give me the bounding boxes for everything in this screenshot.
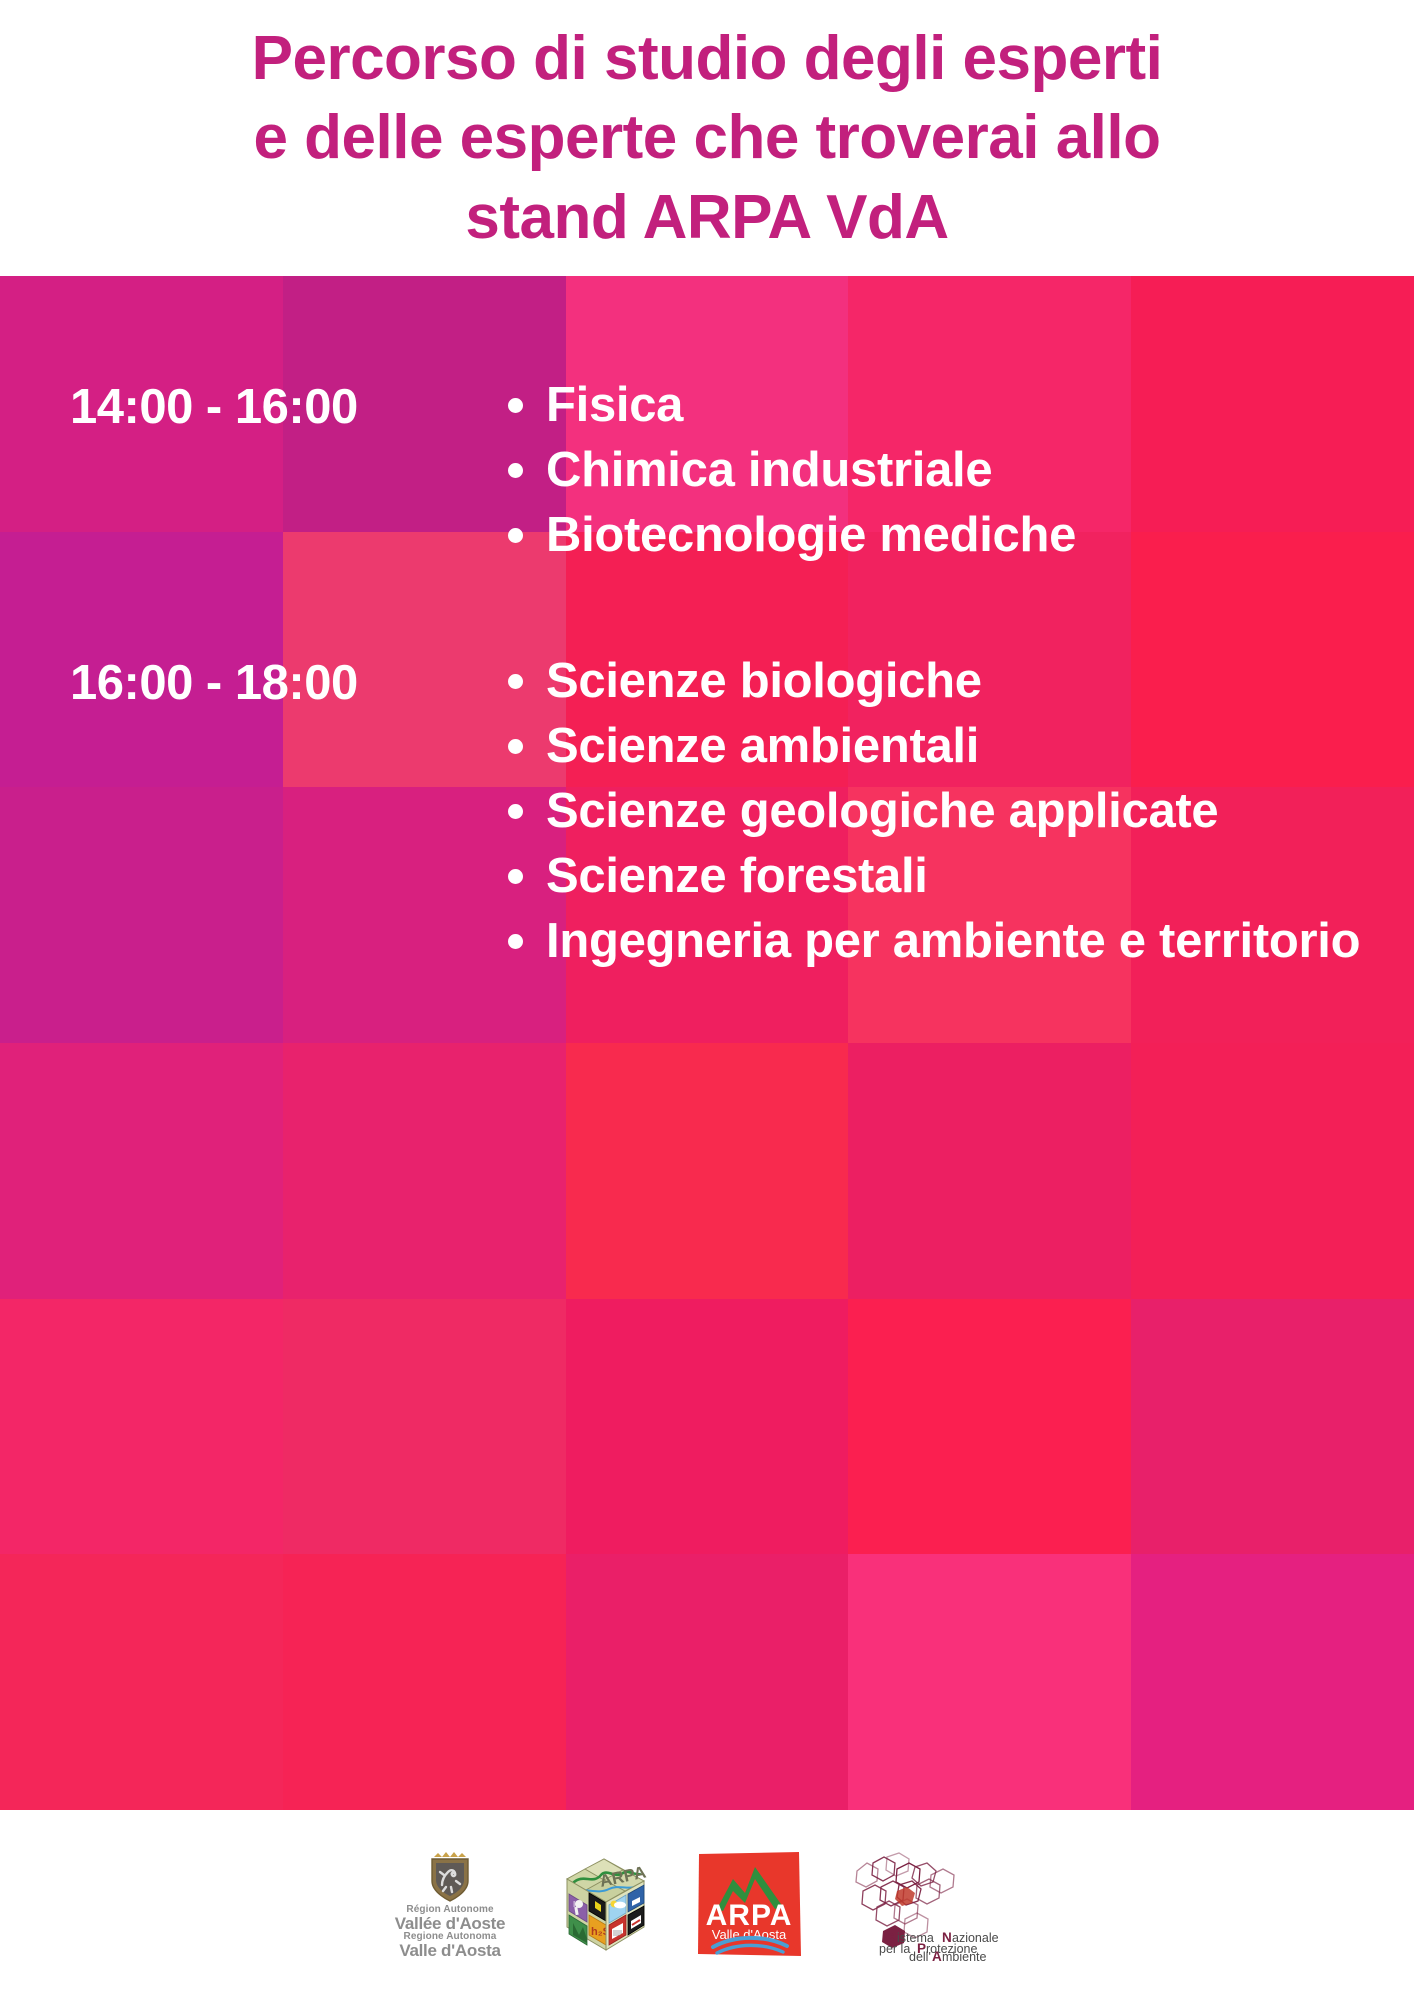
snpa-hexagon-network-icon: S istema N azionale per la P rotezione d… <box>839 1849 1029 1961</box>
title-line-3: stand ARPA VdA <box>465 183 948 252</box>
schedule-slot: 16:00 - 18:00 Scienze biologiche Scienze… <box>70 652 1374 976</box>
footer-logos: Région Autonome Vallée d'Aoste Regione A… <box>0 1810 1414 2000</box>
bullet-icon <box>508 804 523 819</box>
bullet-icon <box>508 674 523 689</box>
snpa-line-2: per la <box>879 1942 910 1956</box>
bullet-icon <box>508 398 523 413</box>
title-line-1: Percorso di studio degli esperti <box>252 24 1163 93</box>
bullet-icon <box>508 528 523 543</box>
page-title: Percorso di studio degli esperti e delle… <box>252 19 1163 257</box>
list-item: Biotecnologie mediche <box>502 506 1374 565</box>
subject-label: Scienze forestali <box>546 849 928 903</box>
bullet-icon <box>508 739 523 754</box>
slot-subject-list: Fisica Chimica industriale Biotecnologie… <box>490 376 1374 570</box>
svg-text:A: A <box>932 1949 942 1961</box>
svg-text:mbiente: mbiente <box>942 1950 987 1961</box>
subject-label: Ingegneria per ambiente e territorio <box>546 914 1360 968</box>
title-line-2: e delle esperte che troverai allo <box>253 103 1160 172</box>
subject-label: Fisica <box>546 378 683 432</box>
region-autonome-vallee-aoste-logo: Région Autonome Vallée d'Aoste Regione A… <box>385 1851 515 1959</box>
list-item: Scienze geologiche applicate <box>502 782 1374 841</box>
poster-root: Percorso di studio degli esperti e delle… <box>0 0 1414 2000</box>
subject-label: Scienze ambientali <box>546 719 979 773</box>
list-item: Chimica industriale <box>502 441 1374 500</box>
subject-label: Scienze geologiche applicate <box>546 784 1218 838</box>
list-item: Scienze ambientali <box>502 717 1374 776</box>
snpa-logo: S istema N azionale per la P rotezione d… <box>839 1849 1029 1961</box>
arpa-cube-logo: ARPA I h₂S <box>549 1849 659 1961</box>
title-block: Percorso di studio degli esperti e delle… <box>0 0 1414 276</box>
bullet-icon <box>508 463 523 478</box>
list-item: Scienze forestali <box>502 847 1374 906</box>
snpa-line-3: dell' <box>909 1950 931 1961</box>
vda-coat-of-arms-icon <box>427 1851 473 1905</box>
subject-label: Chimica industriale <box>546 443 992 497</box>
subject-label: Biotecnologie mediche <box>546 508 1076 562</box>
slot-time: 14:00 - 16:00 <box>70 376 490 435</box>
slot-time: 16:00 - 18:00 <box>70 652 490 711</box>
arpa-valle-aosta-icon: ARPA Valle d'Aosta <box>693 1849 805 1961</box>
list-item: Ingegneria per ambiente e territorio <box>502 912 1374 971</box>
arpa-valle-aosta-logo: ARPA Valle d'Aosta <box>693 1849 805 1961</box>
subject-label: Scienze biologiche <box>546 654 982 708</box>
svg-text:I: I <box>573 1900 575 1909</box>
bullet-icon <box>508 869 523 884</box>
arpa-cube-icon: ARPA I h₂S <box>549 1849 659 1961</box>
schedule-content: 14:00 - 16:00 Fisica Chimica industriale… <box>0 276 1414 1810</box>
bullet-icon <box>508 934 523 949</box>
list-item: Fisica <box>502 376 1374 435</box>
rava-text-block: Région Autonome Vallée d'Aoste Regione A… <box>395 1905 505 1959</box>
rava-line-4: Valle d'Aosta <box>395 1942 505 1959</box>
slot-subject-list: Scienze biologiche Scienze ambientali Sc… <box>490 652 1374 976</box>
rava-line-2: Vallée d'Aoste <box>395 1915 505 1932</box>
list-item: Scienze biologiche <box>502 652 1374 711</box>
schedule-slot: 14:00 - 16:00 Fisica Chimica industriale… <box>70 376 1374 570</box>
